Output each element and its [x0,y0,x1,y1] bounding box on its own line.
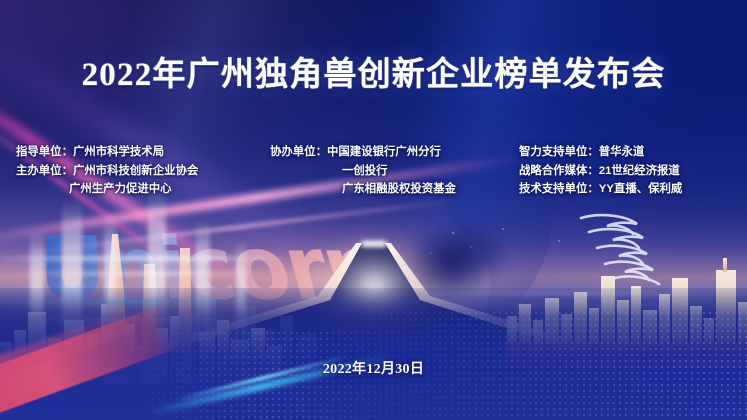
credit-row: 广州生产力促进中心 [16,180,198,199]
credits-block: 指导单位：广州市科学技术局 主办单位：广州市科技创新企业协会 广州生产力促进中心… [0,143,747,207]
credit-row: 战略合作媒体：21世纪经济报道 [519,162,682,181]
event-date: 2022年12月30日 [0,358,747,378]
motion-streak [10,272,270,275]
credit-row: 智力支持单位：普华永道 [519,143,682,162]
credit-row: 一创投行 [270,162,456,181]
motion-streak [0,256,290,261]
road-top-light [361,241,387,247]
credits-column-middle: 协办单位：中国建设银行广州分行 一创投行 广东相融股权投资基金 [270,143,456,199]
credit-row: 技术支持单位：YY直播、保利威 [519,180,682,199]
credit-row: 广东相融股权投资基金 [270,180,456,199]
page-title: 2022年广州独角兽创新企业榜单发布会 [0,47,747,95]
poster-canvas: Unicorns [0,0,747,420]
credit-row: 协办单位：中国建设银行广州分行 [270,143,456,162]
credit-row: 主办单位：广州市科技创新企业协会 [16,162,198,181]
cloud-swirl-icon [571,210,691,290]
credit-row: 指导单位：广州市科学技术局 [16,143,198,162]
credits-column-right: 智力支持单位：普华永道 战略合作媒体：21世纪经济报道 技术支持单位：YY直播、… [519,143,682,199]
credits-column-left: 指导单位：广州市科学技术局 主办单位：广州市科技创新企业协会 广州生产力促进中心 [16,143,198,199]
